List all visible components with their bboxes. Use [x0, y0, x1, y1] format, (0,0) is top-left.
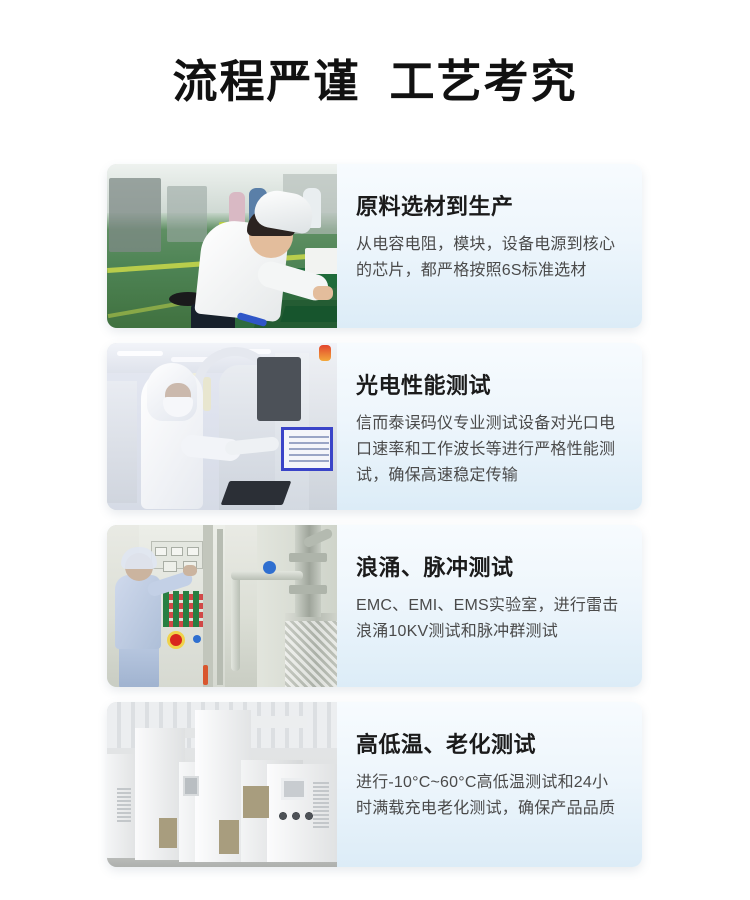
card-body: 高低温、老化测试 进行-10°C~60°C高低温测试和24小时满载充电老化测试，… [337, 702, 642, 867]
card-title: 浪涌、脉冲测试 [356, 555, 620, 581]
card-body: 光电性能测试 信而泰误码仪专业测试设备对光口电口速率和工作波长等进行严格性能测试… [337, 343, 642, 510]
process-card[interactable]: 高低温、老化测试 进行-10°C~60°C高低温测试和24小时满载充电老化测试，… [107, 702, 642, 867]
page-title: 流程严谨 工艺考究 [0, 0, 750, 108]
process-card[interactable]: 浪涌、脉冲测试 EMC、EMI、EMS实验室，进行雷击浪涌10KV测试和脉冲群测… [107, 525, 642, 687]
card-title: 原料选材到生产 [356, 194, 620, 220]
page-root: 流程严谨 工艺考究 原料选材到生产 从 [0, 0, 750, 900]
process-card[interactable]: 光电性能测试 信而泰误码仪专业测试设备对光口电口速率和工作波长等进行严格性能测试… [107, 343, 642, 510]
process-card-list: 原料选材到生产 从电容电阻，模块，设备电源到核心的芯片，都严格按照6S标准选材 [107, 164, 642, 882]
card-text: 从电容电阻，模块，设备电源到核心的芯片，都严格按照6S标准选材 [356, 232, 620, 284]
card-text: EMC、EMI、EMS实验室，进行雷击浪涌10KV测试和脉冲群测试 [356, 593, 620, 645]
process-card[interactable]: 原料选材到生产 从电容电阻，模块，设备电源到核心的芯片，都严格按照6S标准选材 [107, 164, 642, 328]
card-image-pcb-assembly-line-worker [107, 164, 337, 328]
card-text: 信而泰误码仪专业测试设备对光口电口速率和工作波长等进行严格性能测试，确保高速稳定… [356, 411, 620, 489]
card-image-industrial-cabinets-aging-room [107, 702, 337, 867]
card-title: 高低温、老化测试 [356, 732, 620, 758]
card-image-cleanroom-optical-test-equipment [107, 343, 337, 510]
card-title: 光电性能测试 [356, 373, 620, 399]
card-body: 浪涌、脉冲测试 EMC、EMI、EMS实验室，进行雷击浪涌10KV测试和脉冲群测… [337, 525, 642, 687]
card-body: 原料选材到生产 从电容电阻，模块，设备电源到核心的芯片，都严格按照6S标准选材 [337, 164, 642, 328]
card-image-control-panel-operator [107, 525, 337, 687]
card-text: 进行-10°C~60°C高低温测试和24小时满载充电老化测试，确保产品品质 [356, 770, 620, 822]
